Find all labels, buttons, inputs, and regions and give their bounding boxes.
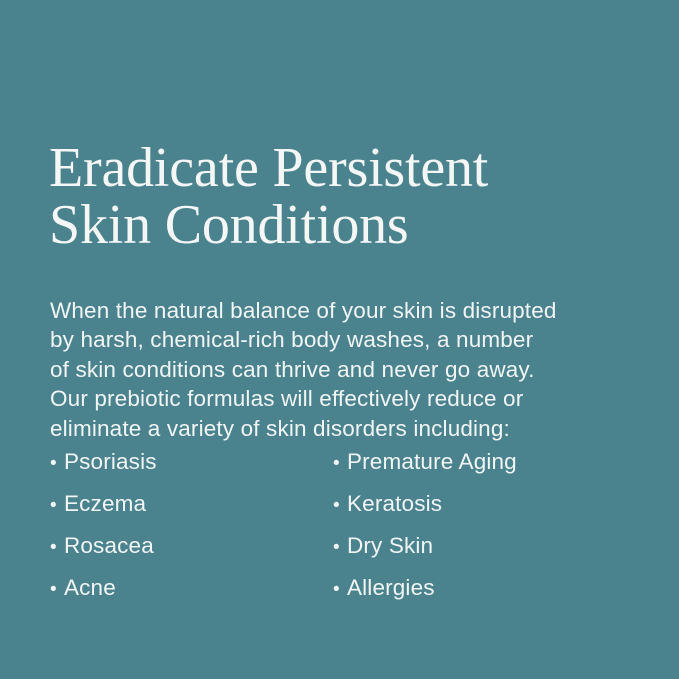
- body-paragraph-line-5: eliminate a variety of skin disorders in…: [50, 414, 622, 444]
- bullet-icon: •: [333, 576, 347, 604]
- body-paragraph-line-4: Our prebiotic formulas will effectively …: [50, 384, 622, 414]
- conditions-list-right-column: • Premature Aging • Keratosis • Dry Skin…: [333, 448, 623, 616]
- list-item: • Keratosis: [333, 490, 623, 532]
- list-item-label: Rosacea: [64, 532, 154, 560]
- body-paragraph-line-3: of skin conditions can thrive and never …: [50, 355, 622, 385]
- promo-card: Eradicate Persistent Skin Conditions Whe…: [0, 0, 679, 679]
- list-item-label: Premature Aging: [347, 448, 517, 476]
- list-item: • Allergies: [333, 574, 623, 616]
- list-item: • Premature Aging: [333, 448, 623, 490]
- page-title-line-1: Eradicate Persistent: [49, 140, 649, 197]
- list-item-label: Allergies: [347, 574, 435, 602]
- page-title: Eradicate Persistent Skin Conditions: [49, 140, 649, 254]
- body-paragraph-line-2: by harsh, chemical-rich body washes, a n…: [50, 325, 622, 355]
- bullet-icon: •: [50, 492, 64, 520]
- list-item-label: Eczema: [64, 490, 146, 518]
- page-title-line-2: Skin Conditions: [49, 197, 649, 254]
- body-paragraph: When the natural balance of your skin is…: [50, 296, 622, 444]
- body-paragraph-line-1: When the natural balance of your skin is…: [50, 296, 622, 326]
- list-item-label: Keratosis: [347, 490, 442, 518]
- bullet-icon: •: [50, 576, 64, 604]
- conditions-list: • Psoriasis • Eczema • Rosacea • Acne • …: [50, 448, 630, 616]
- list-item-label: Acne: [64, 574, 116, 602]
- bullet-icon: •: [50, 534, 64, 562]
- bullet-icon: •: [50, 450, 64, 478]
- list-item: • Eczema: [50, 490, 333, 532]
- list-item: • Rosacea: [50, 532, 333, 574]
- list-item: • Acne: [50, 574, 333, 616]
- list-item-label: Psoriasis: [64, 448, 157, 476]
- conditions-list-left-column: • Psoriasis • Eczema • Rosacea • Acne: [50, 448, 333, 616]
- bullet-icon: •: [333, 450, 347, 478]
- list-item-label: Dry Skin: [347, 532, 433, 560]
- list-item: • Dry Skin: [333, 532, 623, 574]
- bullet-icon: •: [333, 492, 347, 520]
- bullet-icon: •: [333, 534, 347, 562]
- list-item: • Psoriasis: [50, 448, 333, 490]
